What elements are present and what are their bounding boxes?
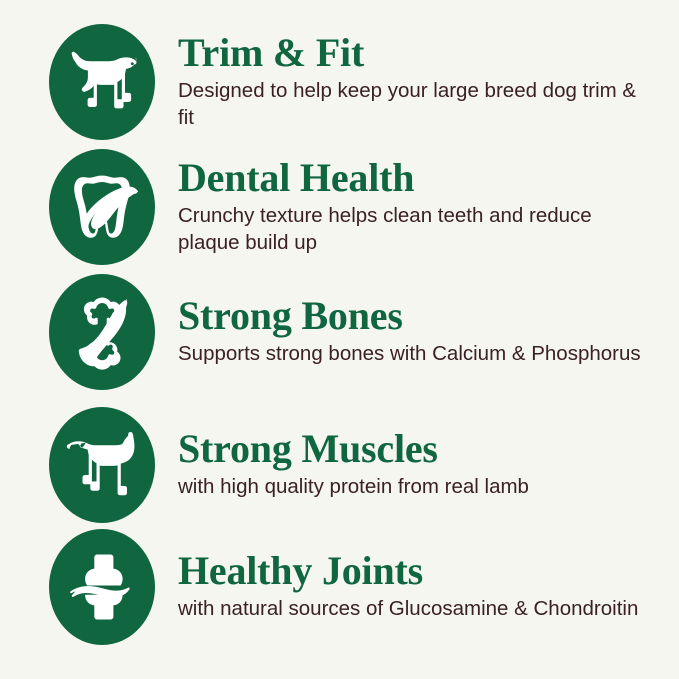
benefit-row: Strong Bones Supports strong bones with …: [0, 272, 679, 392]
benefit-icon-badge: [48, 405, 156, 525]
benefit-description: Crunchy texture helps clean teeth and re…: [178, 202, 648, 257]
benefit-text-block: Healthy Joints with natural sources of G…: [178, 551, 679, 622]
benefit-description: Designed to help keep your large breed d…: [178, 77, 648, 132]
benefit-title: Trim & Fit: [178, 33, 665, 74]
benefit-text-block: Trim & Fit Designed to help keep your la…: [178, 33, 679, 131]
benefit-description: with natural sources of Glucosamine & Ch…: [178, 595, 648, 622]
bone-swirl-icon: [48, 272, 156, 392]
benefit-text-block: Strong Bones Supports strong bones with …: [178, 296, 679, 367]
benefits-list: Trim & Fit Designed to help keep your la…: [0, 0, 679, 679]
dog-standing-icon: [48, 22, 156, 142]
dog-walking-icon: [48, 405, 156, 525]
benefit-text-block: Strong Muscles with high quality protein…: [178, 429, 679, 500]
benefit-title: Dental Health: [178, 158, 665, 199]
benefit-description: with high quality protein from real lamb: [178, 473, 665, 500]
benefit-title: Healthy Joints: [178, 551, 665, 592]
benefit-description: Supports strong bones with Calcium & Pho…: [178, 340, 648, 367]
benefit-icon-badge: [48, 147, 156, 267]
benefit-icon-badge: [48, 22, 156, 142]
tooth-leaf-icon: [48, 147, 156, 267]
joint-cartilage-icon: [48, 527, 156, 647]
benefit-title: Strong Bones: [178, 296, 665, 337]
benefit-text-block: Dental Health Crunchy texture helps clea…: [178, 158, 679, 256]
benefit-icon-badge: [48, 272, 156, 392]
benefit-title: Strong Muscles: [178, 429, 665, 470]
benefit-row: Healthy Joints with natural sources of G…: [0, 527, 679, 647]
benefit-row: Strong Muscles with high quality protein…: [0, 405, 679, 525]
benefit-icon-badge: [48, 527, 156, 647]
benefit-row: Dental Health Crunchy texture helps clea…: [0, 147, 679, 267]
benefit-row: Trim & Fit Designed to help keep your la…: [0, 22, 679, 142]
